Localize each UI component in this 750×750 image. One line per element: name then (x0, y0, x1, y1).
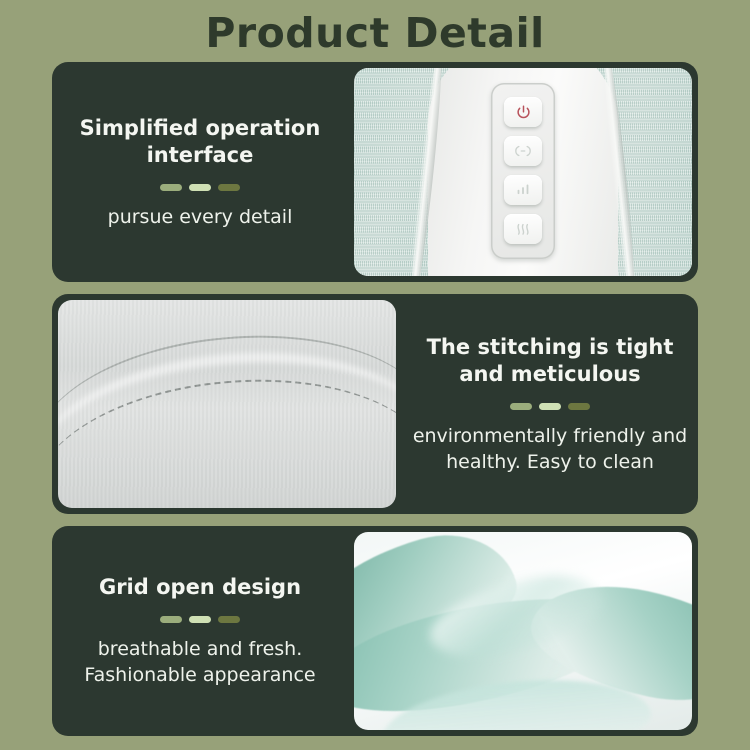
control-panel-photo (354, 68, 692, 276)
feature-card-text-block: Simplified operation interface pursue ev… (52, 62, 348, 282)
massage-mode-button-icon (514, 143, 532, 159)
control-panel-scene (354, 68, 692, 276)
power-button[interactable] (504, 97, 542, 127)
feature-card-simplified-operation: Simplified operation interface pursue ev… (52, 62, 698, 282)
divider-dash-1 (510, 403, 532, 410)
divider-dash-3 (218, 616, 240, 623)
divider-dashes (510, 403, 590, 410)
feature-card-subtext: breathable and fresh. Fashionable appear… (62, 636, 338, 688)
power-button-icon (515, 104, 532, 121)
button-plate (491, 83, 555, 259)
divider-dash-3 (568, 403, 590, 410)
feature-card-text-block: Grid open design breathable and fresh. F… (52, 526, 348, 736)
feature-card-text-block: The stitching is tight and meticulous en… (402, 294, 698, 514)
fabric-stitch-line (58, 364, 396, 508)
divider-dash-1 (160, 184, 182, 191)
feature-card-heading: Simplified operation interface (70, 115, 330, 169)
feature-card-heading: The stitching is tight and meticulous (420, 334, 680, 388)
divider-dash-2 (189, 184, 211, 191)
massage-mode-button[interactable] (504, 136, 542, 166)
divider-dash-2 (539, 403, 561, 410)
feature-card-subtext: environmentally friendly and healthy. Ea… (412, 423, 688, 475)
feature-card-grid-open-design: Grid open design breathable and fresh. F… (52, 526, 698, 736)
divider-dashes (160, 184, 240, 191)
feature-card-stitching: The stitching is tight and meticulous en… (52, 294, 698, 514)
divider-dash-3 (218, 184, 240, 191)
stitched-fabric-photo (58, 300, 396, 508)
fabric-scene (58, 300, 396, 508)
divider-dash-1 (160, 616, 182, 623)
fabric-seam-curve (58, 320, 396, 474)
heat-button[interactable] (504, 214, 542, 244)
intensity-level-button-icon (514, 182, 532, 197)
silk-scene (354, 532, 692, 730)
mint-silk-fabric-photo (354, 532, 692, 730)
fabric-seam-fold (58, 337, 396, 491)
feature-card-subtext: pursue every detail (108, 204, 293, 230)
feature-card-heading: Grid open design (99, 574, 301, 601)
page-title: Product Detail (0, 8, 750, 58)
heat-button-icon (514, 221, 532, 237)
divider-dash-2 (189, 616, 211, 623)
divider-dashes (160, 616, 240, 623)
intensity-level-button[interactable] (504, 175, 542, 205)
